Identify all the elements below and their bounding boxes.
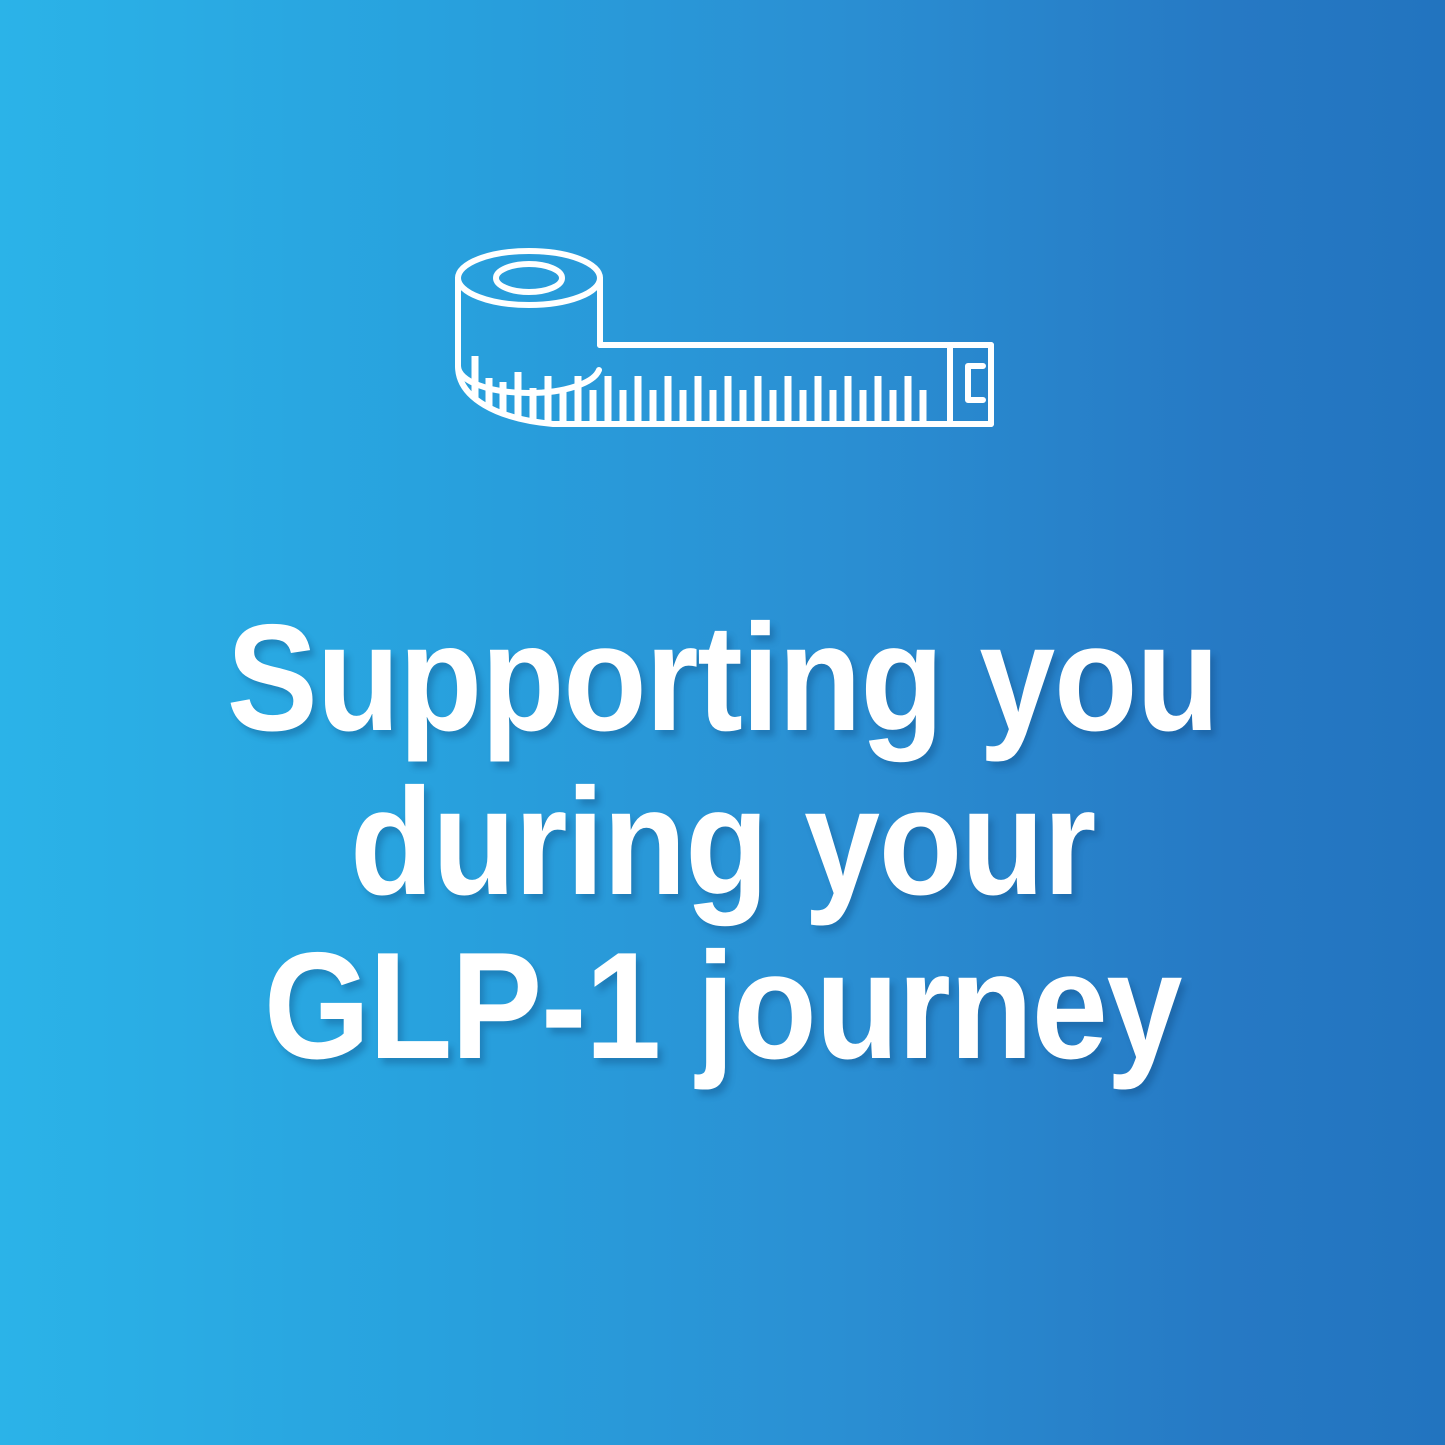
roll-bottom-arc <box>458 366 599 393</box>
roll-inner-ellipse <box>496 264 562 292</box>
headline-line-3: GLP-1 journey <box>108 924 1337 1088</box>
tape-endcap-hook <box>968 366 983 400</box>
headline-line-1: Supporting you <box>108 596 1337 760</box>
headline-block: Supporting you during your GLP-1 journey <box>0 596 1445 1088</box>
tape-tick-group <box>475 356 923 424</box>
headline-line-2: during your <box>108 760 1337 924</box>
tape-measure-icon <box>445 248 1001 453</box>
promo-card: Supporting you during your GLP-1 journey <box>0 0 1445 1445</box>
tape-bottom-edge <box>458 366 991 424</box>
roll-outer-ellipse <box>458 251 600 305</box>
icon-container <box>0 248 1445 463</box>
